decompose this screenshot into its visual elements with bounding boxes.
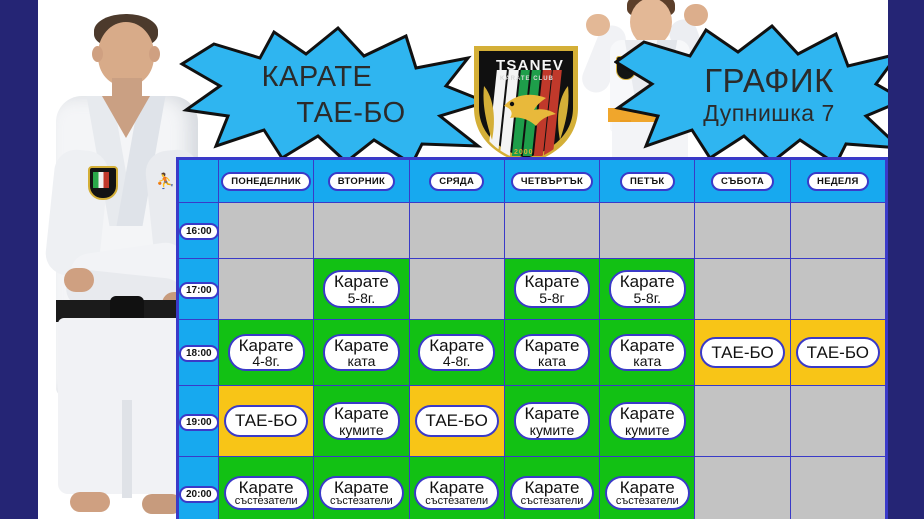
schedule-cell-class[interactable]: ТАЕ-БО	[790, 320, 885, 386]
time-label: 19:00	[179, 414, 219, 431]
class-title: Карате	[525, 405, 580, 422]
class-title: Карате	[425, 479, 488, 496]
class-subtitle: 4-8г.	[429, 354, 484, 368]
schedule-row: 20:00КаратесъстезателиКаратесъстезателиК…	[179, 457, 886, 519]
class-title: ТАЕ-БО	[711, 340, 773, 365]
class-pill: Каратесъстезатели	[319, 476, 404, 511]
class-pill: ТАЕ-БО	[415, 405, 499, 436]
schedule-cell-class[interactable]: Карате4-8г.	[219, 320, 314, 386]
schedule-row: 19:00ТАЕ-БОКаратекумитеТАЕ-БОКаратекумит…	[179, 386, 886, 457]
class-title: Карате	[525, 273, 580, 290]
schedule-cell-empty	[790, 259, 885, 320]
schedule-row: 18:00Карате4-8г.КаратекатаКарате4-8г.Кар…	[179, 320, 886, 386]
schedule-cell-class[interactable]: Каратесъстезатели	[600, 457, 695, 519]
schedule-row: 16:00	[179, 203, 886, 259]
day-label: ПЕТЪК	[620, 172, 675, 191]
schedule-cell-empty	[504, 203, 599, 259]
time-label: 20:00	[179, 486, 219, 503]
class-pill: ТАЕ-БО	[224, 405, 308, 436]
class-title: ТАЕ-БО	[426, 408, 488, 433]
class-pill: Каратесъстезатели	[224, 476, 309, 511]
day-label: ПОНЕДЕЛНИК	[221, 172, 311, 191]
schedule-cell-class[interactable]: Карате5-8г.	[600, 259, 695, 320]
class-pill: ТАЕ-БО	[796, 337, 880, 368]
day-label: ВТОРНИК	[328, 172, 395, 191]
svg-text:TSANEV: TSANEV	[496, 57, 564, 74]
schedule-cell-class[interactable]: Каратекумите	[504, 386, 599, 457]
schedule-cell-class[interactable]: Каратесъстезатели	[219, 457, 314, 519]
class-subtitle: 4-8г.	[239, 354, 294, 368]
banner-line-karate: КАРАТЕ	[262, 62, 373, 92]
schedule-cell-empty	[695, 259, 790, 320]
class-title: Карате	[620, 337, 675, 354]
class-pill: ТАЕ-БО	[700, 337, 784, 368]
class-subtitle: състезатели	[425, 496, 488, 507]
class-subtitle: 5-8г	[525, 291, 580, 305]
class-pill: Каратеката	[514, 334, 591, 372]
class-pill: Карате5-8г	[514, 270, 591, 308]
class-pill: Карате4-8г.	[228, 334, 305, 372]
class-pill: Карате5-8г.	[323, 270, 400, 308]
instructor-ear-left	[92, 46, 103, 62]
class-pill: Каратеката	[323, 334, 400, 372]
class-title: Карате	[235, 479, 298, 496]
schedule-cell-empty	[695, 457, 790, 519]
schedule-cell-class[interactable]: Каратеката	[600, 320, 695, 386]
day-label: СРЯДА	[429, 172, 484, 191]
class-pill: Карате4-8г.	[418, 334, 495, 372]
class-title: Карате	[334, 273, 389, 290]
schedule-cell-empty	[695, 203, 790, 259]
time-cell: 19:00	[179, 386, 219, 457]
schedule-cell-empty	[695, 386, 790, 457]
schedule-cell-class[interactable]: Карате5-8г	[504, 259, 599, 320]
schedule-cell-class[interactable]: Каратесъстезатели	[504, 457, 599, 519]
day-label: СЪБОТА	[711, 172, 774, 191]
schedule-cell-class[interactable]: ТАЕ-БО	[219, 386, 314, 457]
class-title: ТАЕ-БО	[807, 340, 869, 365]
instructor-ear-right	[149, 46, 160, 62]
schedule-cell-empty	[409, 203, 504, 259]
class-title: Карате	[334, 337, 389, 354]
child-fist-left	[586, 14, 610, 36]
schedule-cell-class[interactable]: ТАЕ-БО	[695, 320, 790, 386]
club-patch-stripes	[93, 172, 109, 188]
class-subtitle: 5-8г.	[334, 291, 389, 305]
time-cell: 17:00	[179, 259, 219, 320]
schedule-cell-class[interactable]: Каратекумите	[314, 386, 409, 457]
schedule-cell-class[interactable]: Каратесъстезатели	[314, 457, 409, 519]
class-pill: Каратесъстезатели	[414, 476, 499, 511]
banner-disciplines: КАРАТЕ ТАЕ-БО	[178, 24, 490, 166]
day-header-5: ПЕТЪК	[600, 160, 695, 203]
schedule-cell-empty	[790, 457, 885, 519]
day-header-3: СРЯДА	[409, 160, 504, 203]
svg-text:KARATE CLUB: KARATE CLUB	[500, 76, 554, 82]
frame-right-bar	[888, 0, 924, 519]
schedule-cell-empty	[219, 203, 314, 259]
karate-schedule-poster: ⛹ КАРАТЕ ТАЕ-БО	[0, 0, 924, 519]
banner-disciplines-text: КАРАТЕ ТАЕ-БО	[178, 24, 490, 166]
schedule-cell-class[interactable]: Каратеката	[504, 320, 599, 386]
class-subtitle: ката	[334, 354, 389, 368]
club-badge-logo: TSANEV KARATE CLUB 2000	[470, 40, 582, 164]
class-pill: Каратеката	[609, 334, 686, 372]
schedule-cell-class[interactable]: Карате4-8г.	[409, 320, 504, 386]
day-header-6: СЪБОТА	[695, 160, 790, 203]
schedule-grid: ПОНЕДЕЛНИКВТОРНИКСРЯДАЧЕТВЪРТЪКПЕТЪКСЪБО…	[176, 157, 888, 519]
day-header-1: ПОНЕДЕЛНИК	[219, 160, 314, 203]
class-subtitle: състезатели	[235, 496, 298, 507]
svg-text:2000: 2000	[514, 149, 534, 156]
class-subtitle: ката	[525, 354, 580, 368]
class-title: Карате	[334, 405, 389, 422]
banner-line-address: Дупнишка 7	[703, 102, 835, 125]
schedule-cell-empty	[219, 259, 314, 320]
day-label: ЧЕТВЪРТЪК	[511, 172, 593, 191]
schedule-cell-class[interactable]: Каратекумите	[600, 386, 695, 457]
class-title: Карате	[620, 273, 675, 290]
class-subtitle: кумите	[334, 423, 389, 437]
banner-schedule-text: ГРАФИК Дупнишка 7	[614, 24, 906, 166]
banner-line-grafik: ГРАФИК	[704, 64, 834, 98]
class-title: Карате	[239, 337, 294, 354]
instructor-head	[98, 22, 154, 86]
class-title: Карате	[616, 479, 679, 496]
class-subtitle: състезатели	[521, 496, 584, 507]
day-header-4: ЧЕТВЪРТЪК	[504, 160, 599, 203]
child-fist-right	[684, 4, 708, 26]
class-title: Карате	[620, 405, 675, 422]
class-pill: Каратекумите	[323, 402, 400, 440]
day-header-7: НЕДЕЛЯ	[790, 160, 885, 203]
schedule-cell-empty	[790, 386, 885, 457]
class-subtitle: кумите	[525, 423, 580, 437]
time-cell: 20:00	[179, 457, 219, 519]
time-label: 17:00	[179, 282, 219, 299]
schedule-corner-cell	[179, 160, 219, 203]
class-subtitle: 5-8г.	[620, 291, 675, 305]
time-cell: 18:00	[179, 320, 219, 386]
class-title: Карате	[525, 337, 580, 354]
frame-left-bar	[0, 0, 38, 519]
class-subtitle: ката	[620, 354, 675, 368]
class-pill: Карате5-8г.	[609, 270, 686, 308]
schedule-cell-empty	[790, 203, 885, 259]
schedule-table: ПОНЕДЕЛНИКВТОРНИКСРЯДАЧЕТВЪРТЪКПЕТЪКСЪБО…	[178, 159, 886, 519]
class-pill: Каратекумите	[609, 402, 686, 440]
time-label: 18:00	[179, 345, 219, 362]
time-label: 16:00	[179, 223, 219, 240]
class-title: Карате	[429, 337, 484, 354]
time-cell: 16:00	[179, 203, 219, 259]
class-subtitle: състезатели	[616, 496, 679, 507]
class-pill: Каратесъстезатели	[510, 476, 595, 511]
class-title: Карате	[521, 479, 584, 496]
schedule-header-row: ПОНЕДЕЛНИКВТОРНИКСРЯДАЧЕТВЪРТЪКПЕТЪКСЪБО…	[179, 160, 886, 203]
class-subtitle: състезатели	[330, 496, 393, 507]
instructor-foot-left	[70, 492, 110, 512]
schedule-cell-empty	[409, 259, 504, 320]
schedule-cell-class[interactable]: Каратеката	[314, 320, 409, 386]
class-title: Карате	[330, 479, 393, 496]
class-pill: Каратесъстезатели	[605, 476, 690, 511]
schedule-cell-class[interactable]: ТАЕ-БО	[409, 386, 504, 457]
banner-schedule-location: ГРАФИК Дупнишка 7	[614, 24, 906, 166]
instructor-pants-gap	[122, 400, 132, 498]
day-label: НЕДЕЛЯ	[807, 172, 869, 191]
instructor-hand-left	[64, 268, 94, 292]
banner-line-taebo: ТАЕ-БО	[296, 98, 405, 128]
schedule-cell-empty	[314, 203, 409, 259]
schedule-row: 17:00Карате5-8г.Карате5-8гКарате5-8г.	[179, 259, 886, 320]
schedule-cell-class[interactable]: Каратесъстезатели	[409, 457, 504, 519]
class-pill: Каратекумите	[514, 402, 591, 440]
day-header-2: ВТОРНИК	[314, 160, 409, 203]
class-subtitle: кумите	[620, 423, 675, 437]
schedule-cell-class[interactable]: Карате5-8г.	[314, 259, 409, 320]
club-patch-icon	[88, 166, 118, 200]
schedule-cell-empty	[600, 203, 695, 259]
class-title: ТАЕ-БО	[235, 408, 297, 433]
